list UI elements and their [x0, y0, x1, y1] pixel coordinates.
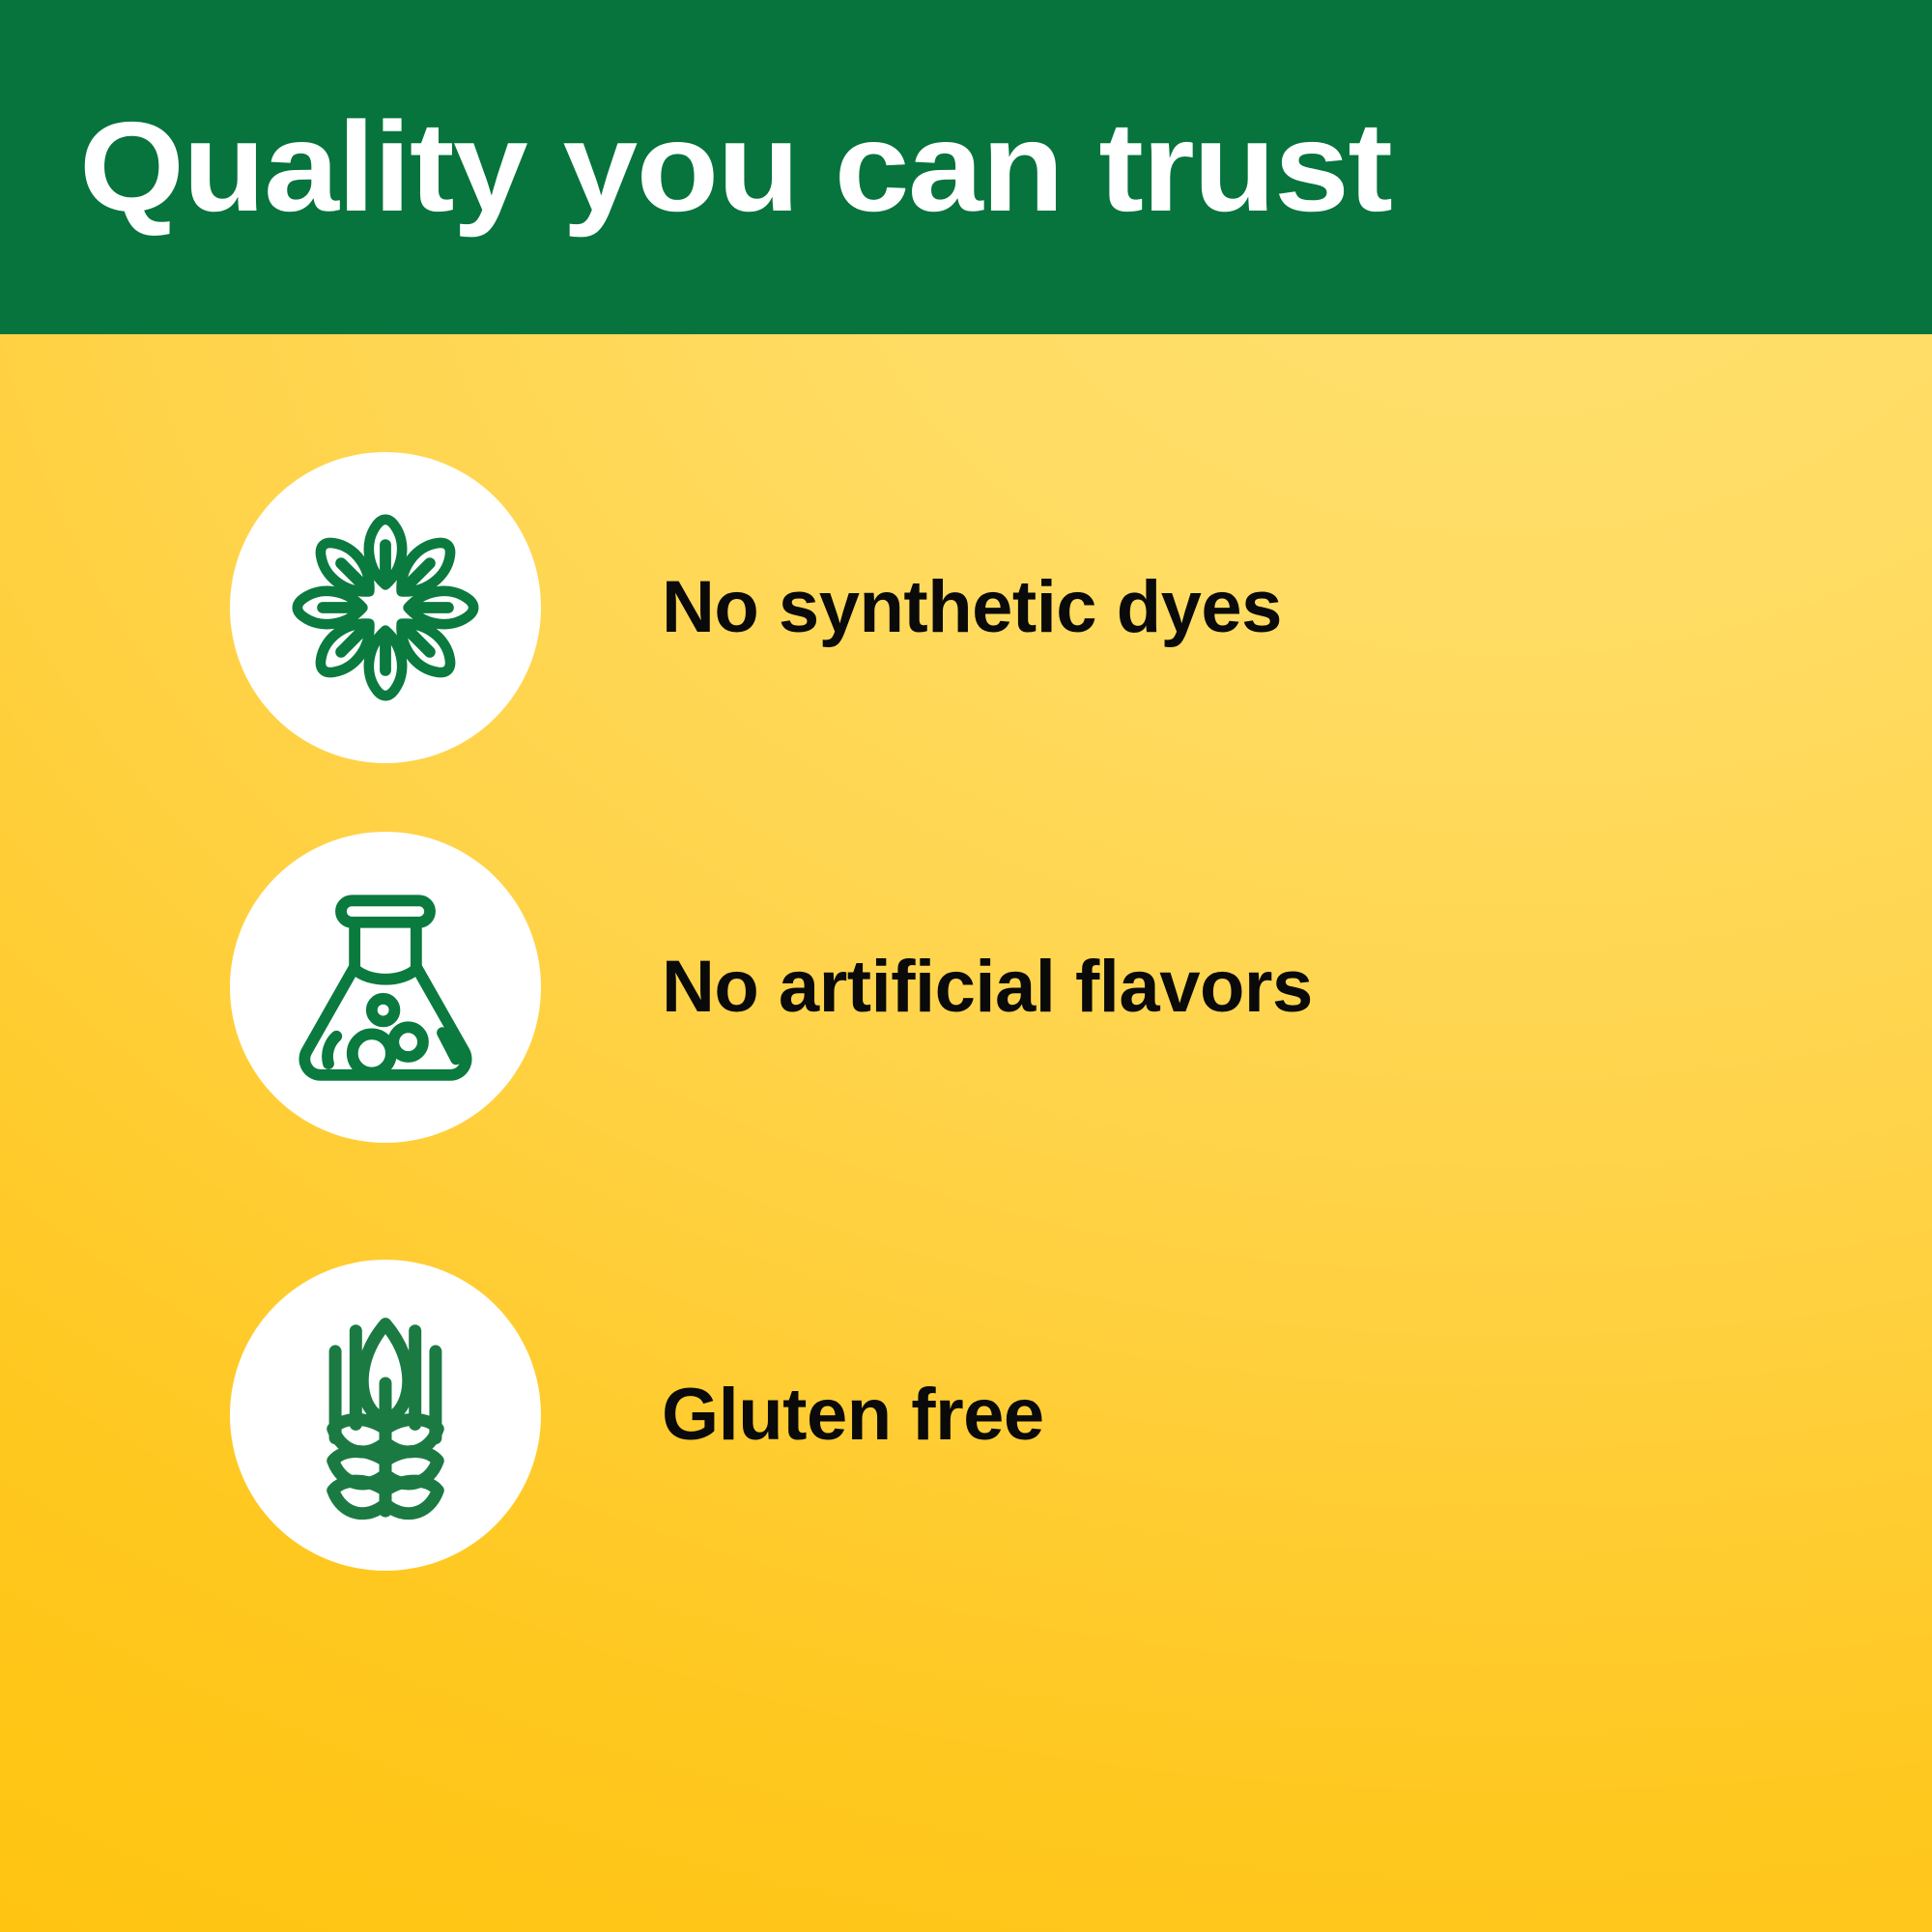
list-item-label: No synthetic dyes: [662, 571, 1282, 644]
header-banner: Quality you can trust: [0, 0, 1932, 334]
list-item: No artificial flavors: [230, 832, 1872, 1143]
erlenmeyer-flask-icon: [271, 873, 499, 1101]
list-item-label: No artificial flavors: [662, 951, 1313, 1024]
flower-petals-icon: [271, 494, 499, 722]
icon-badge: [230, 1260, 541, 1571]
list-item-label: Gluten free: [662, 1378, 1044, 1452]
page-title: Quality you can trust: [79, 103, 1391, 231]
wheat-stalk-icon: [271, 1301, 499, 1529]
icon-badge: [230, 832, 541, 1143]
icon-badge: [230, 452, 541, 763]
feature-list: No synthetic dyes: [0, 334, 1932, 1932]
list-item: Gluten free: [230, 1260, 1872, 1571]
promo-graphic: Quality you can trust: [0, 0, 1932, 1932]
list-item: No synthetic dyes: [230, 452, 1872, 763]
